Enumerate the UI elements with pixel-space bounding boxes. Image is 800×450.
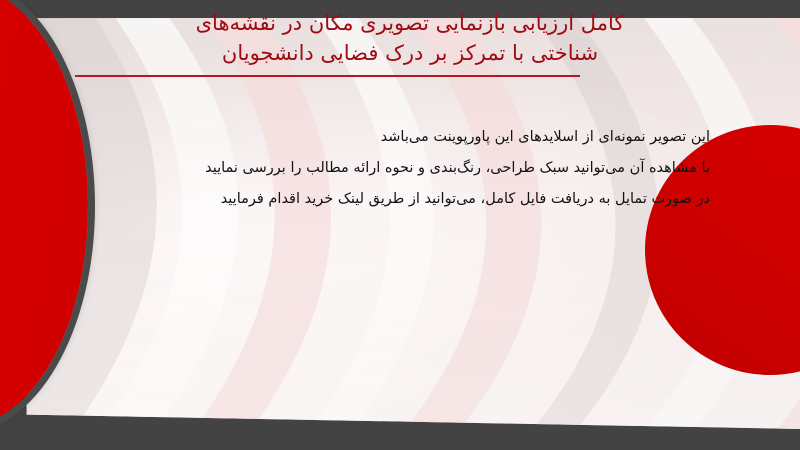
slide-body-line-3: در صورت تمایل به دریافت فایل کامل، می‌تو… <box>205 184 710 215</box>
slide-body-line-1: این تصویر نمونه‌ای از اسلایدهای این پاور… <box>205 122 710 153</box>
title-underline <box>75 75 580 77</box>
frame-bottom-bar <box>0 430 800 450</box>
slide-canvas <box>22 17 800 429</box>
slide-body-line-2: با مشاهده آن می‌توانید سبک طراحی، رنگ‌بن… <box>205 153 710 184</box>
slide-title-line-2: شناختی با تمرکز بر درک فضایی دانشجویان <box>60 38 760 68</box>
slide-title-line-1: کامل ارزیابی بازنمایی تصویری مکان در نقش… <box>60 8 760 38</box>
slide-title: کامل ارزیابی بازنمایی تصویری مکان در نقش… <box>60 8 760 68</box>
slide-body: این تصویر نمونه‌ای از اسلایدهای این پاور… <box>205 122 710 215</box>
presentation-slide: کامل ارزیابی بازنمایی تصویری مکان در نقش… <box>0 0 800 450</box>
